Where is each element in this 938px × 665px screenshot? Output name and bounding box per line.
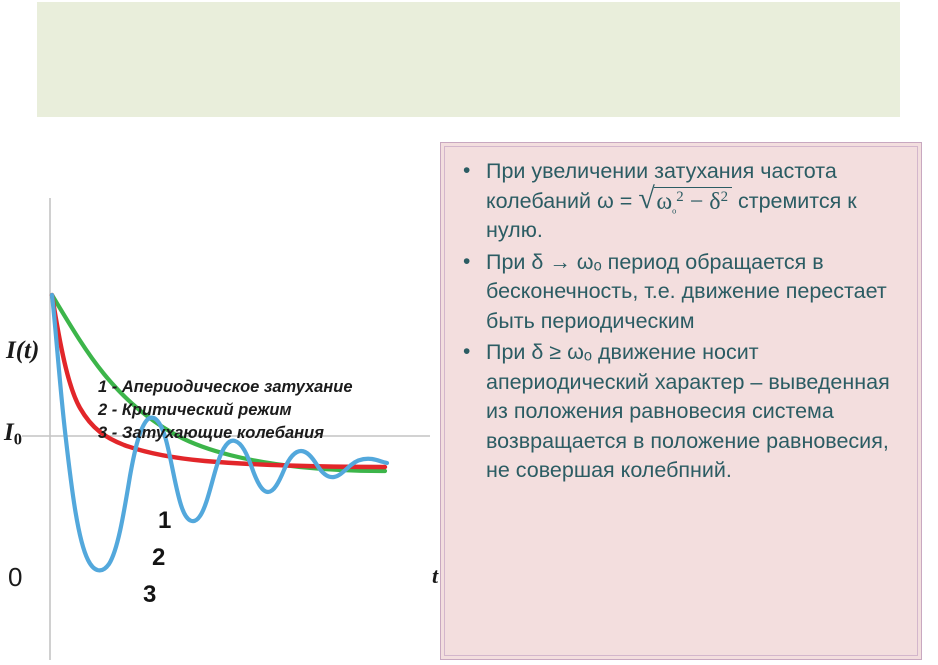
graph-legend: 1 - Апериодическое затухание 2 - Критиче… — [98, 376, 353, 445]
explanation-text-panel[interactable]: При увеличении затухания частота колебан… — [440, 142, 922, 660]
y-axis-label: I(t) — [6, 337, 39, 365]
text-panel-inner-border: При увеличении затухания частота колебан… — [444, 146, 918, 656]
square-root-icon: √ωₒ2 − δ2 — [638, 187, 732, 215]
y-origin-label: I0 — [4, 419, 22, 450]
origin-zero-label: 0 — [8, 562, 22, 593]
bullet-list: При увеличении затухания частота колебан… — [455, 157, 905, 486]
x-axis-label: t — [432, 563, 438, 589]
curve-callout-3: 3 — [143, 581, 156, 609]
curve-callout-2: 2 — [152, 544, 165, 572]
omega-symbol: ω — [656, 190, 672, 216]
y-origin-label-sub: 0 — [14, 430, 22, 449]
bullet-item-3: При δ ≥ ωₒ движение носит апериодический… — [455, 338, 905, 486]
bullet-item-2: При δ → ωₒ период обращается в бесконечн… — [455, 248, 905, 337]
delta-symbol: δ — [709, 190, 720, 216]
bullet-item-1: При увеличении затухания частота колебан… — [455, 157, 905, 246]
omega-formula: √ωₒ2 − δ2 — [638, 187, 732, 215]
radicand: ωₒ2 − δ2 — [654, 187, 732, 215]
title-placeholder-banner[interactable] — [37, 2, 900, 117]
omega-exponent: 2 — [676, 189, 683, 205]
delta-exponent: 2 — [721, 189, 728, 205]
legend-item-3: 3 - Затухающие колебания — [98, 422, 353, 445]
minus-sign: − — [690, 190, 704, 216]
curve-callout-1: 1 — [158, 507, 171, 535]
radical-sign: √ — [638, 187, 654, 211]
damped-oscillation-graph: I(t) I0 0 t 1 2 3 1 - Апериодическое зат… — [0, 140, 452, 660]
y-origin-label-main: I — [4, 419, 14, 446]
legend-item-2: 2 - Критический режим — [98, 399, 353, 422]
legend-item-1: 1 - Апериодическое затухание — [98, 376, 353, 399]
